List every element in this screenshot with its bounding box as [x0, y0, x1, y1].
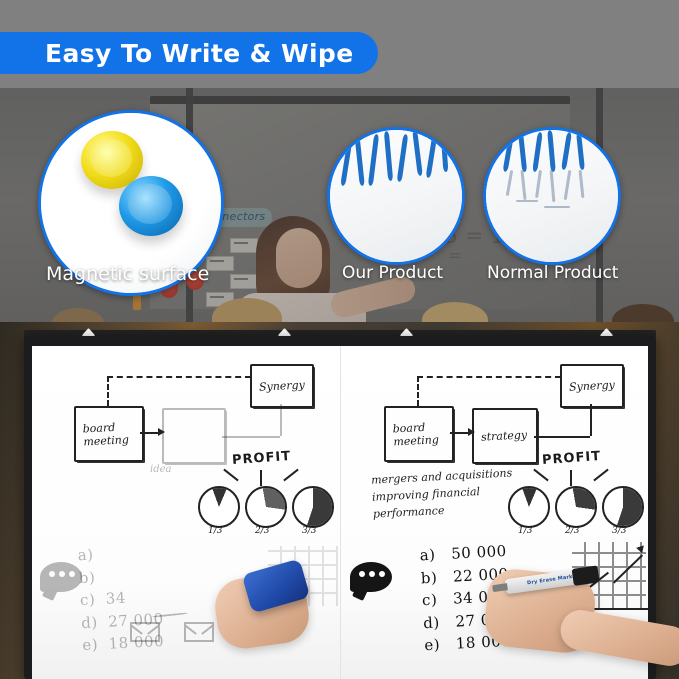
- pie-label: 2/3: [255, 526, 269, 536]
- diagram-dashed-link: [417, 376, 419, 406]
- callout-our-product: [327, 127, 465, 265]
- pie-label: 2/3: [565, 526, 579, 536]
- pie-chart: [292, 486, 334, 528]
- pie-slice: [557, 488, 595, 526]
- pie-label: 3/3: [302, 526, 316, 536]
- pie-slice: [200, 488, 238, 526]
- diagram-box-board-meeting: board meeting: [384, 406, 454, 462]
- pie-label: 3/3: [612, 526, 626, 536]
- callout-normal-product: [483, 127, 621, 265]
- ghost-residue: [516, 200, 538, 202]
- pie-slice: [510, 488, 548, 526]
- diagram-arrow: [450, 432, 470, 434]
- diagram-link: [590, 404, 592, 436]
- diagram-box-label: board meeting: [82, 419, 142, 448]
- whiteboard-photo: board meeting Synergy idea PROFIT: [0, 322, 679, 679]
- magnet-blue-icon: [119, 176, 183, 236]
- notes-text: mergers and acquisitions improving finan…: [371, 464, 515, 522]
- speech-bubble-icon: [350, 562, 392, 592]
- diagram-link: [222, 436, 280, 438]
- speech-bubble-icon: [40, 562, 82, 592]
- diagram-box-board-meeting: board meeting: [74, 406, 144, 462]
- profit-arrow: [260, 470, 262, 486]
- diagram-box-label: Synergy: [569, 378, 615, 393]
- pie-chart: [198, 486, 240, 528]
- pie-label: 1/3: [518, 526, 532, 536]
- diagram-link: [534, 436, 590, 438]
- diagram-arrowhead: [158, 428, 165, 436]
- profit-arrow: [223, 469, 238, 482]
- diagram-arrow: [140, 432, 160, 434]
- profit-arrow: [593, 469, 608, 482]
- product-infographic: Connectors = = x 5 = 15 Easy To Write & …: [0, 0, 679, 679]
- diagram-box-strategy-faded: [162, 408, 226, 464]
- profit-arrow: [570, 470, 572, 486]
- pie-chart: [245, 486, 287, 528]
- pie-label: 1/3: [208, 526, 222, 536]
- diagram-dashed-link: [417, 376, 561, 378]
- diagram-box-label: Synergy: [259, 378, 305, 393]
- envelope-icon: [184, 622, 214, 642]
- profit-label: PROFIT: [542, 449, 602, 468]
- pie-slice: [294, 488, 332, 526]
- headline-banner: Easy To Write & Wipe: [0, 32, 378, 74]
- pie-chart: [602, 486, 644, 528]
- diagram-box-synergy: Synergy: [560, 364, 624, 408]
- diagram-box-label: board meeting: [392, 419, 452, 448]
- diagram-box-label: strategy: [481, 428, 528, 443]
- callout-caption-magnetic-surface: Magnetic surface: [46, 263, 209, 285]
- pie-slice: [604, 488, 642, 526]
- marker-cap: [572, 565, 600, 585]
- pie-chart: [508, 486, 550, 528]
- envelope-icon: [130, 622, 160, 642]
- profit-arrow: [283, 469, 298, 482]
- pie-slice: [247, 488, 285, 526]
- diagram-dashed-link: [107, 376, 109, 406]
- profit-label: PROFIT: [232, 449, 292, 468]
- diagram-box-synergy: Synergy: [250, 364, 314, 408]
- callout-caption-our-product: Our Product: [342, 263, 443, 283]
- pie-chart: [555, 486, 597, 528]
- callout-caption-normal-product: Normal Product: [487, 263, 618, 283]
- marker-brand-text: Dry Erase Marker: [527, 573, 579, 586]
- diagram-dashed-link: [107, 376, 251, 378]
- profit-arrow: [533, 469, 548, 482]
- headline-text: Easy To Write & Wipe: [0, 39, 354, 68]
- diagram-link: [280, 404, 282, 436]
- diagram-box-strategy: strategy: [472, 408, 538, 464]
- diagram-note: idea: [150, 464, 171, 475]
- marker-tip: [492, 583, 508, 592]
- panel-divider: [340, 346, 341, 679]
- diagram-arrowhead: [468, 428, 475, 436]
- ghost-residue: [544, 206, 570, 208]
